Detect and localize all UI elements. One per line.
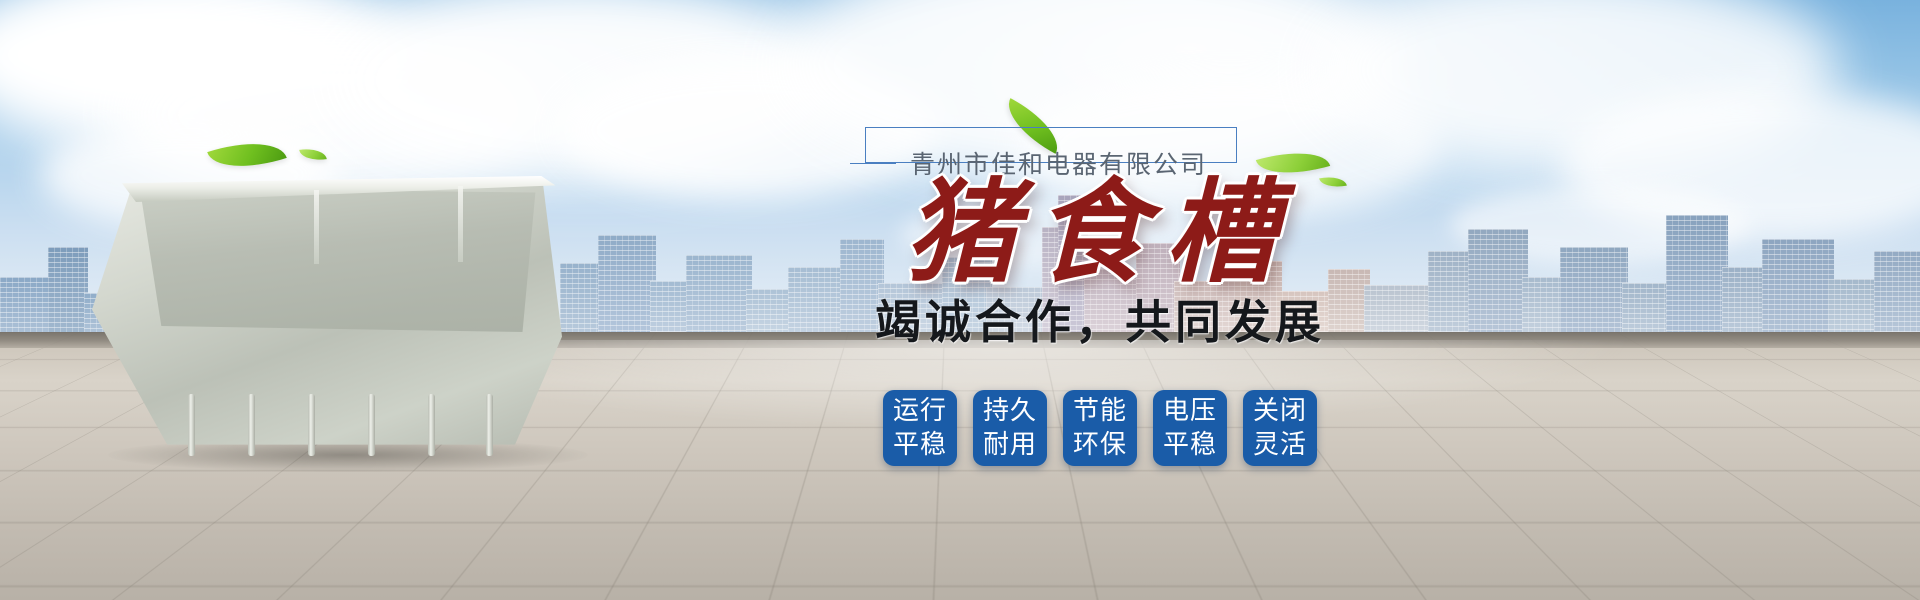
feature-badge-line1: 运行 xyxy=(893,394,947,428)
trough-rib xyxy=(458,186,463,262)
feature-badge-line1: 关闭 xyxy=(1253,394,1307,428)
subtitle-slogan: 竭诚合作，共同发展 xyxy=(720,296,1480,348)
feature-badge[interactable]: 持久 耐用 xyxy=(973,390,1047,466)
feature-badge[interactable]: 关闭 灵活 xyxy=(1243,390,1317,466)
feature-badge-line1: 持久 xyxy=(983,394,1037,428)
feature-badge-line2: 平稳 xyxy=(1163,428,1217,462)
trough-divider-bar xyxy=(188,394,195,456)
feature-badge-line2: 环保 xyxy=(1073,428,1127,462)
feature-badge[interactable]: 运行 平稳 xyxy=(883,390,957,466)
product-image-pig-feeding-trough xyxy=(78,162,578,462)
trough-divider-bar xyxy=(308,394,315,456)
trough-divider-bar xyxy=(428,394,435,456)
company-name-rule xyxy=(850,163,896,164)
feature-badge-line2: 灵活 xyxy=(1253,428,1307,462)
trough-divider-bar xyxy=(248,394,255,456)
trough-rib xyxy=(314,190,319,264)
feature-badge-line2: 平稳 xyxy=(893,428,947,462)
trough-divider-bar xyxy=(486,394,493,456)
banner-copy: 青州市佳和电器有限公司 猪食槽 竭诚合作，共同发展 运行 平稳 持久 耐用 节能… xyxy=(700,100,1480,560)
feature-badge[interactable]: 节能 环保 xyxy=(1063,390,1137,466)
trough-divider-bar xyxy=(368,394,375,456)
feature-badge-line2: 耐用 xyxy=(983,428,1037,462)
page-title: 猪食槽 xyxy=(720,170,1480,295)
feature-badge-line1: 节能 xyxy=(1073,394,1127,428)
feature-badge[interactable]: 电压 平稳 xyxy=(1153,390,1227,466)
trough-inner-wall xyxy=(114,188,544,338)
feature-badge-list: 运行 平稳 持久 耐用 节能 环保 电压 平稳 关闭 灵活 xyxy=(720,390,1480,480)
feature-badge-line1: 电压 xyxy=(1163,394,1217,428)
banner-stage: 青州市佳和电器有限公司 猪食槽 竭诚合作，共同发展 运行 平稳 持久 耐用 节能… xyxy=(0,0,1920,600)
